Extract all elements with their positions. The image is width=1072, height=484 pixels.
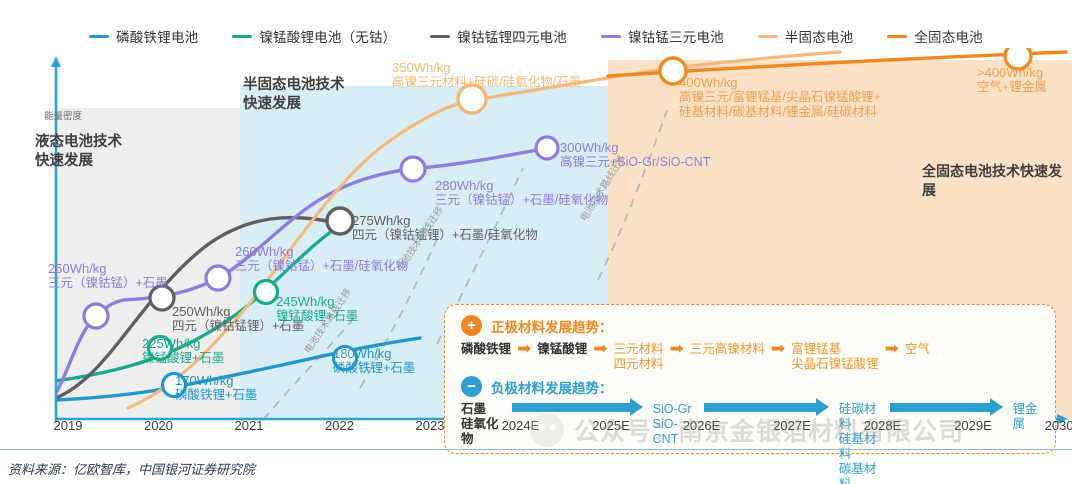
plot-area: 能量密度 液态电池技术 快速发展 半固态电池技术 快速发展 全固态电池技术快速发… bbox=[0, 48, 1072, 448]
chart-page: 磷酸铁锂电池镍锰酸锂电池（无钴）镍钴锰锂四元电池镍钴锰三元电池半固态电池全固态电… bbox=[0, 0, 1072, 484]
annotation-material: 三元（镍钴锰）+石墨/硅氧化物 bbox=[235, 259, 408, 274]
cathode-steps: 磷酸铁锂➡镍锰酸锂➡三元材料 四元材料➡三元高镍材料➡富锂锰基 尖晶石镍锰酸锂➡… bbox=[461, 341, 1043, 372]
source-note: 资料来源：亿欧智库，中国银河证券研究院 bbox=[8, 459, 255, 478]
cathode-step-0: 磷酸铁锂 bbox=[461, 341, 511, 357]
legend-item-2[interactable]: 镍钴锰锂四元电池 bbox=[430, 26, 567, 46]
x-tick-2029E: 2029E bbox=[954, 418, 992, 433]
annotation-300Whkg: 300Wh/kg高镍三元+SiO-Gr/SiO-CNT bbox=[560, 140, 710, 170]
zone-caption-all-solid: 全固态电池技术快速发展 bbox=[922, 162, 1072, 200]
annotation-material: 空气+锂金属 bbox=[977, 80, 1047, 95]
x-tick-2027E: 2027E bbox=[773, 418, 811, 433]
annotation-material: 磷酸铁锂+石墨 bbox=[175, 388, 257, 403]
arrow-right-icon bbox=[704, 401, 829, 413]
cathode-step-3: 三元高镍材料 bbox=[690, 341, 765, 357]
x-axis-labels: 201920202021202220232024E2025E2026E2027E… bbox=[0, 418, 1072, 440]
x-tick-2028E: 2028E bbox=[864, 418, 902, 433]
minus-icon: − bbox=[461, 376, 482, 397]
legend-label: 全固态电池 bbox=[914, 26, 983, 46]
cathode-trend-header: + 正极材料发展趋势： bbox=[461, 315, 613, 336]
annotation-350Whkg: 350Wh/kg高镍三元材料+硅碳/硅氧化物/石墨 bbox=[392, 60, 581, 90]
x-tick-2019: 2019 bbox=[54, 418, 83, 433]
annotation-value: 275Wh/kg bbox=[352, 213, 538, 228]
legend-label: 镍锰酸锂电池（无钴） bbox=[259, 26, 396, 46]
annotation-value: 170Wh/kg bbox=[175, 373, 257, 388]
legend-label: 半固态电池 bbox=[785, 26, 854, 46]
x-tick-2024E: 2024E bbox=[502, 418, 540, 433]
zone-caption-liquid: 液态电池技术 快速发展 bbox=[35, 133, 122, 171]
annotation-400Whkg: 400Wh/kg高镍三元/富锂锰基/尖晶石镍锰酸锂+ 硅基材料/碳基材料/锂金属… bbox=[679, 75, 881, 120]
annotation-material: 高镍三元/富锂锰基/尖晶石镍锰酸锂+ 硅基材料/碳基材料/锂金属/硅碳材料 bbox=[679, 90, 881, 120]
legend-item-3[interactable]: 镍钴锰三元电池 bbox=[601, 26, 724, 46]
anode-step-2: 硅碳材料 硅基材料 碳基材料 bbox=[839, 401, 880, 484]
anode-trend-header: − 负极材料发展趋势： bbox=[461, 376, 613, 397]
cathode-trend-title: 正极材料发展趋势： bbox=[491, 316, 613, 336]
x-tick-2023: 2023 bbox=[416, 418, 445, 433]
point-marker-280-ternary bbox=[401, 157, 425, 181]
cathode-step-2: 三元材料 四元材料 bbox=[614, 341, 664, 372]
annotation-material: 高镍三元材料+硅碳/硅氧化物/石墨 bbox=[392, 75, 581, 90]
anode-steps: 石墨 硅氧化物SiO-Gr SiO-CNT硅碳材料 硅基材料 碳基材料锂金属 bbox=[461, 401, 1043, 484]
arrow-right-icon bbox=[890, 401, 1003, 413]
zone-caption-semi-solid: 半固态电池技术 快速发展 bbox=[243, 76, 345, 114]
annotation-225Whkg: 225Wh/kg镍锰酸锂+石墨 bbox=[142, 336, 224, 366]
legend-item-4[interactable]: 半固态电池 bbox=[758, 26, 854, 46]
annotation-value: 280Wh/kg bbox=[435, 178, 608, 193]
legend-label: 磷酸铁锂电池 bbox=[116, 26, 198, 46]
y-axis-label: 能量密度 bbox=[44, 108, 82, 122]
annotation-value: 400Wh/kg bbox=[679, 75, 881, 90]
footer-divider bbox=[0, 449, 1072, 450]
plus-icon: + bbox=[461, 315, 482, 336]
annotation-material: 四元（镍钴锰锂）+石墨/硅氧化物 bbox=[352, 228, 538, 243]
x-tick-2022: 2022 bbox=[325, 418, 354, 433]
annotation-275Whkg: 275Wh/kg四元（镍钴锰锂）+石墨/硅氧化物 bbox=[352, 213, 538, 243]
point-marker-245-lnmo bbox=[255, 281, 278, 304]
annotation-value: 225Wh/kg bbox=[142, 336, 224, 351]
x-tick-2025E: 2025E bbox=[592, 418, 630, 433]
arrow-right-icon: ➡ bbox=[593, 342, 607, 356]
arrow-right-icon: ➡ bbox=[670, 342, 684, 356]
chart-legend: 磷酸铁锂电池镍锰酸锂电池（无钴）镍钴锰锂四元电池镍钴锰三元电池半固态电池全固态电… bbox=[0, 24, 1072, 48]
annotation-value: 250Wh/kg bbox=[48, 261, 168, 276]
point-marker-275-quaternary bbox=[327, 208, 353, 234]
x-tick-2021: 2021 bbox=[235, 418, 264, 433]
arrow-right-icon: ➡ bbox=[517, 342, 531, 356]
annotation-250Whkg: 250Wh/kg三元（镍钴锰）+石墨 bbox=[48, 261, 168, 291]
annotation-value: >400Wh/kg bbox=[977, 65, 1047, 80]
cathode-step-1: 镍锰酸锂 bbox=[537, 341, 587, 357]
x-tick-2026E: 2026E bbox=[683, 418, 721, 433]
annotation-260Whkg: 260Wh/kg三元（镍钴锰）+石墨/硅氧化物 bbox=[235, 244, 408, 274]
cathode-step-4: 富锂锰基 尖晶石镍锰酸锂 bbox=[791, 341, 879, 372]
legend-swatch-icon bbox=[887, 35, 907, 38]
annotation-value: 260Wh/kg bbox=[235, 244, 408, 259]
annotation-material: 磷酸铁锂+石墨 bbox=[333, 361, 415, 376]
legend-item-0[interactable]: 磷酸铁锂电池 bbox=[89, 26, 198, 46]
point-marker-260-ternary bbox=[206, 266, 230, 290]
legend-swatch-icon bbox=[232, 35, 252, 38]
legend-item-5[interactable]: 全固态电池 bbox=[887, 26, 983, 46]
legend-swatch-icon bbox=[430, 35, 450, 38]
point-marker-300-ternary bbox=[536, 137, 558, 159]
annotation-material: 高镍三元+SiO-Gr/SiO-CNT bbox=[560, 155, 710, 170]
legend-label: 镍钴锰锂四元电池 bbox=[457, 26, 567, 46]
legend-swatch-icon bbox=[601, 35, 621, 38]
x-tick-2030E: 2030E bbox=[1045, 418, 1072, 433]
arrow-right-icon: ➡ bbox=[885, 342, 899, 356]
annotation-180Whkg: 180Wh/kg磷酸铁锂+石墨 bbox=[333, 346, 415, 376]
annotation-material: 三元（镍钴锰）+石墨 bbox=[48, 276, 168, 291]
legend-swatch-icon bbox=[758, 35, 778, 38]
x-tick-2020: 2020 bbox=[144, 418, 173, 433]
annotation-material: 镍锰酸锂+石墨 bbox=[142, 351, 224, 366]
annotation-value: 350Wh/kg bbox=[392, 60, 581, 75]
annotation-value: 180Wh/kg bbox=[333, 346, 415, 361]
legend-item-1[interactable]: 镍锰酸锂电池（无钴） bbox=[232, 26, 396, 46]
arrow-right-icon: ➡ bbox=[771, 342, 785, 356]
arrow-right-icon bbox=[512, 401, 643, 413]
legend-swatch-icon bbox=[89, 35, 109, 38]
point-marker-250-ternary bbox=[84, 304, 108, 328]
anode-trend-title: 负极材料发展趋势： bbox=[491, 377, 613, 397]
legend-label: 镍钴锰三元电池 bbox=[628, 26, 724, 46]
cathode-step-5: 空气 bbox=[905, 341, 930, 357]
annotation-400Whkg: >400Wh/kg空气+锂金属 bbox=[977, 65, 1047, 95]
annotation-170Whkg: 170Wh/kg磷酸铁锂+石墨 bbox=[175, 373, 257, 403]
annotation-value: 300Wh/kg bbox=[560, 140, 710, 155]
